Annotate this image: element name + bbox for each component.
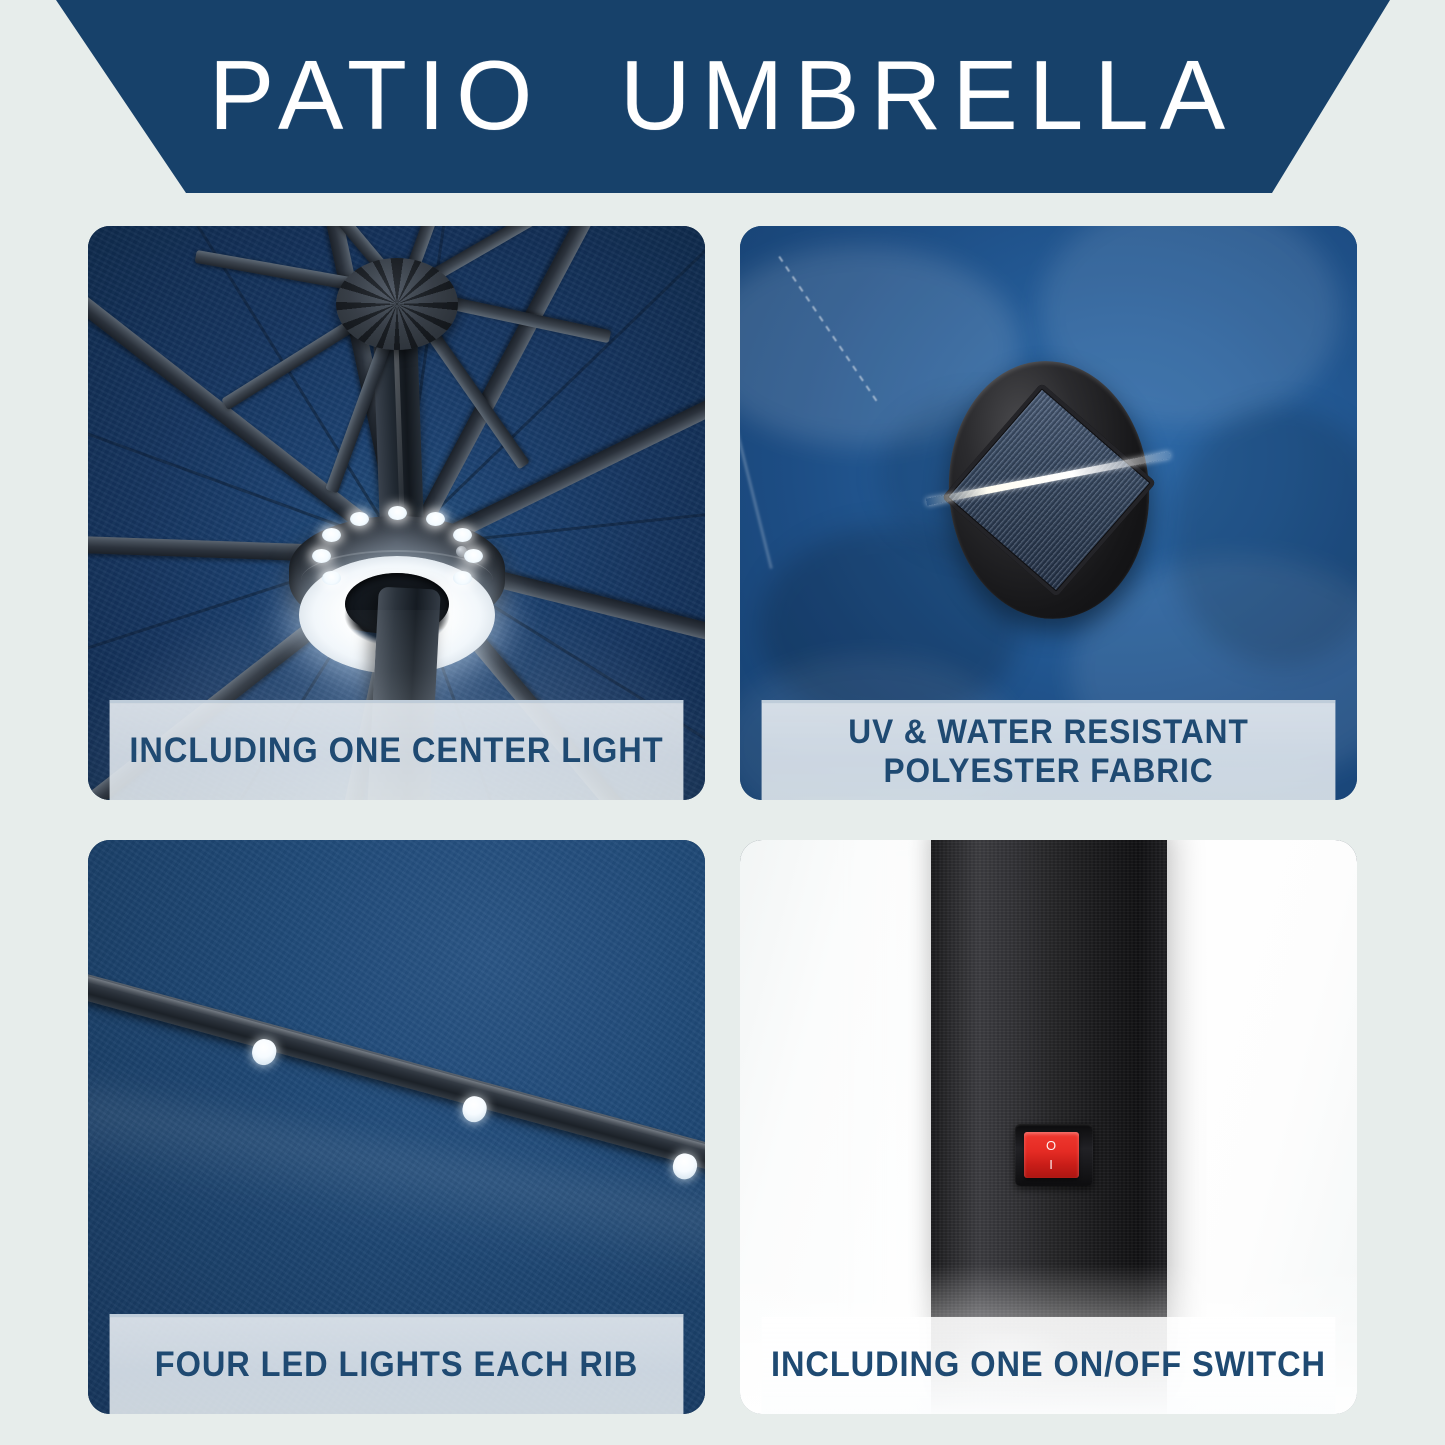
switch-bezel: O I [1015,1124,1093,1186]
caption-line: INCLUDING ONE ON/OFF SWITCH [771,1347,1326,1384]
onoff-rocker-switch[interactable]: O I [1024,1132,1079,1178]
switch-on-label: I [1049,1158,1053,1171]
led-bulb [322,571,341,585]
page-title: PATIO UMBRELLA [0,0,1445,196]
feature-panel-led-lights-each-rib: FOUR LED LIGHTS EACH RIB [88,840,705,1414]
caption-line: UV & WATER RESISTANT [848,713,1248,751]
feature-panel-center-light: INCLUDING ONE CENTER LIGHT [88,226,705,800]
led-bulb [312,549,331,563]
led-bulb [249,1036,279,1067]
led-bulb [388,506,407,520]
feature-panel-onoff-switch: O I INCLUDING ONE ON/OFF SWITCH [740,840,1357,1414]
feature-panel-grid: INCLUDING ONE CENTER LIGHT UV & WATER RE… [88,226,1357,1414]
led-bulb [453,528,472,542]
led-bulb [670,1151,700,1182]
header-banner: PATIO UMBRELLA [0,0,1445,196]
led-bulb [350,512,369,526]
panel-caption-center-light: INCLUDING ONE CENTER LIGHT [110,700,684,800]
panel-caption-onoff-switch: INCLUDING ONE ON/OFF SWITCH [762,1317,1336,1414]
led-bulb [453,571,472,585]
panel-caption-led-lights-each-rib: FOUR LED LIGHTS EACH RIB [110,1314,684,1414]
switch-off-label: O [1046,1139,1056,1152]
caption-line: INCLUDING ONE CENTER LIGHT [129,733,663,770]
led-bulb [464,549,483,563]
led-bulb [459,1094,489,1125]
crown-slots [336,258,458,350]
caption-line: FOUR LED LIGHTS EACH RIB [155,1347,638,1384]
led-bulb [322,528,341,542]
led-bulb [426,512,445,526]
umbrella-crown-hub [336,258,458,350]
panel-caption-uv-water-resistant-fabric: UV & WATER RESISTANT POLYESTER FABRIC [762,700,1336,800]
caption-line: POLYESTER FABRIC [884,752,1214,790]
feature-panel-uv-water-resistant-fabric: UV & WATER RESISTANT POLYESTER FABRIC [740,226,1357,800]
